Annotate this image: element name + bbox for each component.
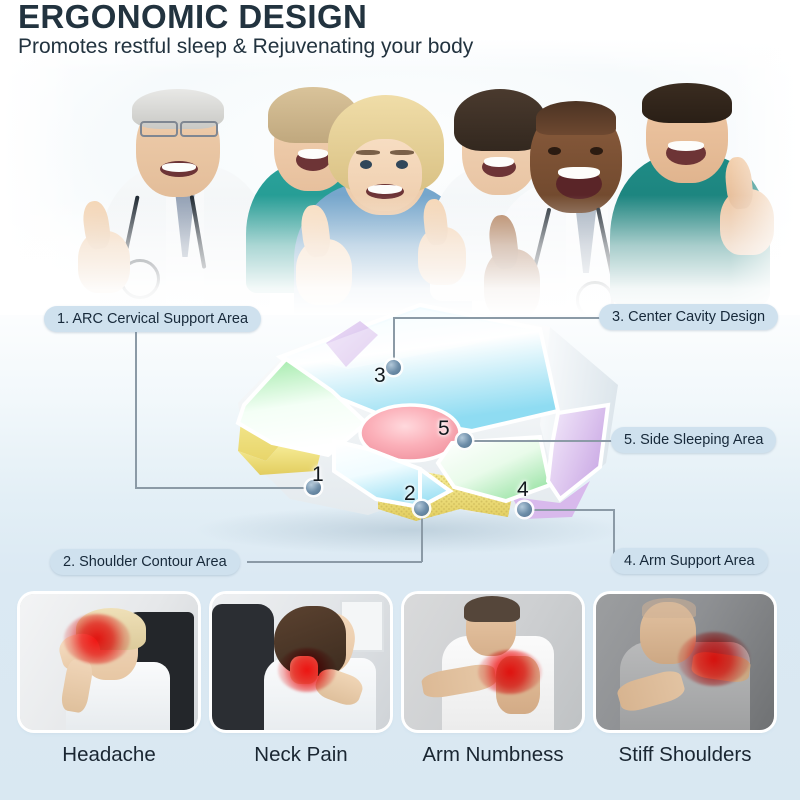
symptom-caption-neck-pain: Neck Pain xyxy=(212,742,390,768)
hotspot-dot-2[interactable] xyxy=(414,501,429,516)
hotspot-number-2: 2 xyxy=(404,482,416,506)
pain-highlight xyxy=(478,650,542,694)
page-subtitle: Promotes restful sleep & Rejuvenating yo… xyxy=(18,34,473,60)
symptom-card-stiff-shoulders[interactable] xyxy=(596,594,774,730)
page-title: ERGONOMIC DESIGN xyxy=(18,0,367,35)
pain-highlight xyxy=(678,632,750,686)
leader-line-2-horizontal xyxy=(247,561,422,563)
hotspot-dot-5[interactable] xyxy=(457,433,472,448)
hotspot-number-1: 1 xyxy=(312,463,324,487)
pain-highlight xyxy=(278,648,336,692)
symptom-caption-stiff-shoulders: Stiff Shoulders xyxy=(596,742,774,768)
symptom-card-arm-numbness[interactable] xyxy=(404,594,582,730)
callout-label-5[interactable]: 5. Side Sleeping Area xyxy=(611,427,776,453)
symptom-card-row: Headache Neck Pain xyxy=(0,586,800,800)
symptom-caption-arm-numbness: Arm Numbness xyxy=(404,742,582,768)
pain-highlight xyxy=(64,614,130,664)
hotspot-number-3: 3 xyxy=(374,364,386,388)
leader-line-2-vertical xyxy=(421,508,423,562)
leader-line-4-horizontal xyxy=(524,509,614,511)
callout-label-4[interactable]: 4. Arm Support Area xyxy=(611,548,768,574)
hero-photo-band xyxy=(0,40,800,315)
hotspot-number-4: 4 xyxy=(517,478,529,502)
hotspot-dot-3[interactable] xyxy=(386,360,401,375)
hotspot-dot-4[interactable] xyxy=(517,502,532,517)
infographic-page: ERGONOMIC DESIGN Promotes restful sleep … xyxy=(0,0,800,800)
callout-label-1[interactable]: 1. ARC Cervical Support Area xyxy=(44,306,261,332)
symptom-caption-headache: Headache xyxy=(20,742,198,768)
symptom-card-neck-pain[interactable] xyxy=(212,594,390,730)
leader-line-3-horizontal xyxy=(393,317,601,319)
header: ERGONOMIC DESIGN Promotes restful sleep … xyxy=(0,0,800,62)
callout-label-3[interactable]: 3. Center Cavity Design xyxy=(599,304,778,330)
leader-line-1-vertical xyxy=(135,330,137,488)
leader-line-5-horizontal xyxy=(464,440,614,442)
callout-label-2[interactable]: 2. Shoulder Contour Area xyxy=(50,549,240,575)
hotspot-number-5: 5 xyxy=(438,417,450,441)
leader-line-1-horizontal xyxy=(135,487,315,489)
symptom-card-headache[interactable] xyxy=(20,594,198,730)
